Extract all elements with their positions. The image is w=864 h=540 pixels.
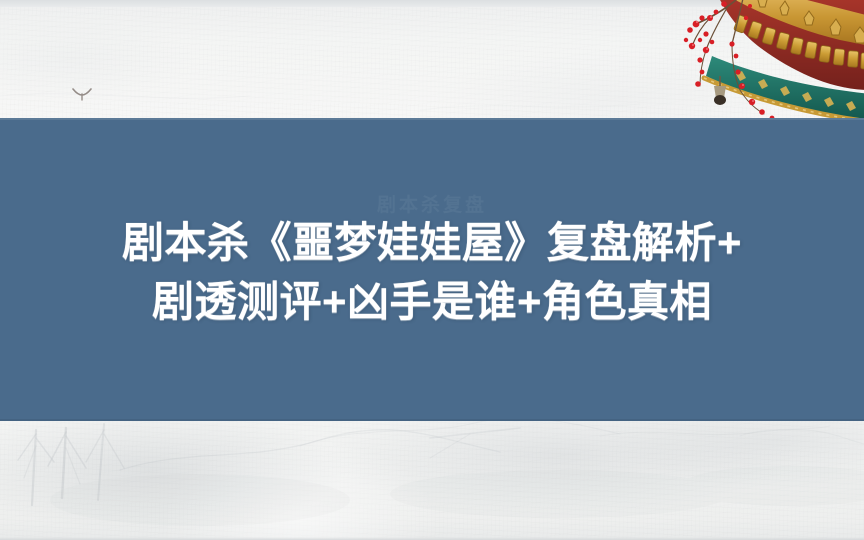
chinese-palace-eave-decoration	[640, 0, 864, 124]
title-line-2: 剧透测评+凶手是谁+角色真相	[152, 280, 712, 325]
banner-bottom-edge	[0, 419, 864, 421]
title-banner: 剧本杀复盘 剧本杀《噩梦娃娃屋》复盘解析+ 剧透测评+凶手是谁+角色真相	[0, 118, 864, 421]
title-line-1: 剧本杀《噩梦娃娃屋》复盘解析+	[122, 221, 742, 266]
flying-bird-icon	[72, 86, 92, 102]
video-thumbnail: 剧本杀复盘 剧本杀《噩梦娃娃屋》复盘解析+ 剧透测评+凶手是谁+角色真相	[0, 0, 864, 540]
title-block: 剧本杀《噩梦娃娃屋》复盘解析+ 剧透测评+凶手是谁+角色真相	[0, 118, 864, 421]
